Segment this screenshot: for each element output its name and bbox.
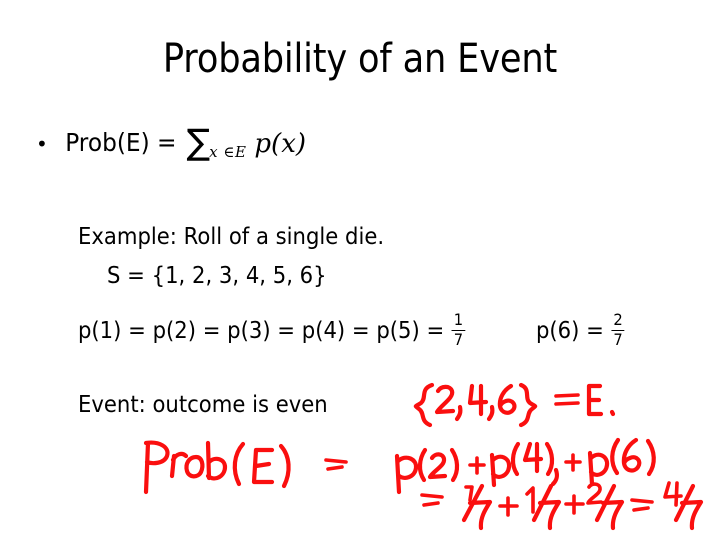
fraction-denominator: 7: [452, 332, 465, 349]
event-line: Event: outcome is even: [78, 392, 328, 418]
fraction-denominator: 7: [612, 332, 625, 349]
sigma-icon: ∑: [187, 129, 211, 157]
summand-term: p(x): [254, 129, 306, 159]
fraction-two-sevenths: 2 7: [612, 312, 625, 349]
slide-canvas: Probability of an Event • Prob(E) = ∑ x …: [0, 0, 720, 540]
example-line: Example: Roll of a single die.: [78, 224, 384, 250]
bullet-marker-icon: •: [36, 134, 48, 154]
fraction-one-seventh: 1 7: [452, 312, 465, 349]
ink-event-set: [416, 385, 613, 425]
bullet-formula-line: • Prob(E) = ∑ x ∈E p(x): [36, 126, 306, 158]
p6-prefix: p(6) =: [536, 318, 604, 344]
page-title: Probability of an Event: [43, 36, 677, 82]
p6-line: p(6) = 2 7: [536, 313, 625, 350]
prob-of-e-label: Prob(E) =: [65, 128, 176, 157]
probabilities-prefix: p(1) = p(2) = p(3) = p(4) = p(5) =: [78, 318, 444, 344]
fraction-numerator: 1: [452, 312, 465, 329]
summation-expression: ∑ x ∈E p(x): [187, 126, 306, 158]
ink-sum-line: [422, 483, 701, 528]
fraction-numerator: 2: [612, 312, 625, 329]
ink-prob-line: [146, 440, 654, 492]
sigma-subscript: x ∈E: [209, 143, 246, 161]
sample-space-line: S = {1, 2, 3, 4, 5, 6}: [107, 263, 327, 289]
probabilities-line: p(1) = p(2) = p(3) = p(4) = p(5) = 1 7: [78, 313, 466, 350]
